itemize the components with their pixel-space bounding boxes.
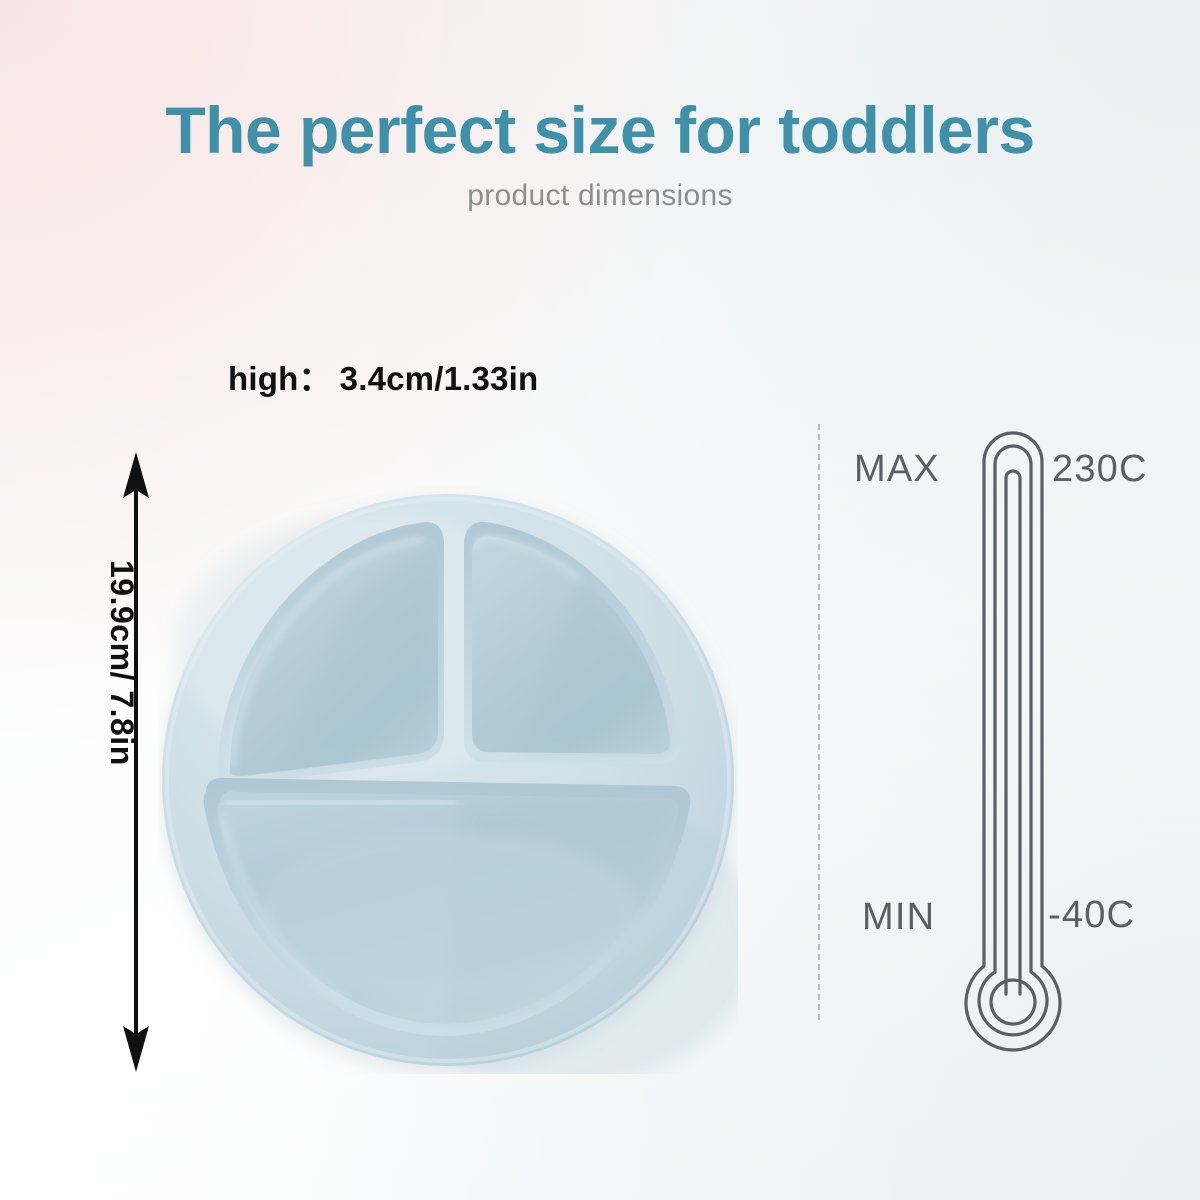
- compartment-top-right: [464, 522, 680, 764]
- height-callout-label: high：: [228, 360, 332, 397]
- thermometer-max-label: MAX: [854, 448, 940, 491]
- thermometer-min-label: MIN: [862, 896, 935, 939]
- temperature-range-panel: MAX 230C MIN -40C: [840, 406, 1185, 1076]
- page-title: The perfect size for toddlers: [0, 96, 1200, 165]
- height-callout: high：3.4cm/1.33in: [228, 352, 538, 400]
- height-callout-value: 3.4cm/1.33in: [340, 360, 539, 397]
- thermometer-capillary: [1006, 471, 1020, 994]
- diameter-dimension-label: 19.9cm/ 7.8in: [103, 560, 140, 880]
- vertical-dashed-divider: [818, 424, 820, 1020]
- thermometer-icon: [948, 406, 1078, 1076]
- thermometer-max-value: 230C: [1052, 448, 1148, 491]
- thermometer-outer-wall: [966, 433, 1060, 1050]
- thermometer-bulb: [991, 980, 1035, 1024]
- plate-illustration: [158, 486, 738, 1074]
- page-subtitle: product dimensions: [0, 179, 1200, 213]
- product-image-plate: [158, 486, 738, 1074]
- header: The perfect size for toddlers product di…: [0, 0, 1200, 213]
- thermometer-inner-wall: [979, 446, 1047, 1035]
- thermometer-min-value: -40C: [1048, 894, 1135, 937]
